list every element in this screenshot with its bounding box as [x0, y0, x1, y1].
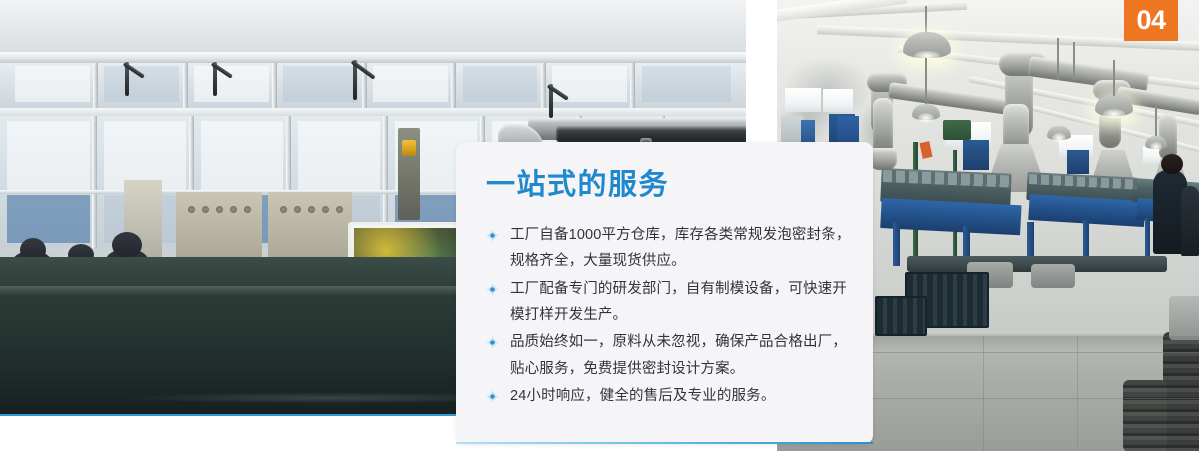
list-item: 品质始终如一，原料从未忽视，确保产品合格出厂，贴心服务，免费提供密封设计方案。	[486, 329, 851, 382]
list-item: 工厂配备专门的研发部门，自有制模设备，可快速开模打样开发生产。	[486, 276, 851, 329]
service-info-card: 一站式的服务 工厂自备1000平方仓库，库存各类常规发泡密封条，规格齐	[456, 142, 873, 444]
target-dot-icon	[486, 336, 499, 349]
service-bullet-list: 工厂自备1000平方仓库，库存各类常规发泡密封条，规格齐全，大量现货供应。	[486, 222, 851, 410]
step-number-text: 04	[1136, 7, 1165, 34]
banner-stage: 04 一站式的服务 工厂自备	[0, 0, 1199, 451]
list-item: 24小时响应，健全的售后及专业的服务。	[486, 383, 851, 409]
target-dot-icon	[486, 283, 499, 296]
list-item: 工厂自备1000平方仓库，库存各类常规发泡密封条，规格齐全，大量现货供应。	[486, 222, 851, 275]
list-item-text: 工厂配备专门的研发部门，自有制模设备，可快速开模打样开发生产。	[510, 281, 847, 323]
target-dot-icon	[486, 229, 499, 242]
list-item-text: 工厂自备1000平方仓库，库存各类常规发泡密封条，规格齐全，大量现货供应。	[510, 227, 851, 269]
target-dot-icon	[486, 390, 499, 403]
step-number-badge: 04	[1124, 0, 1178, 41]
list-item-text: 24小时响应，健全的售后及专业的服务。	[510, 388, 775, 404]
list-item-text: 品质始终如一，原料从未忽视，确保产品合格出厂，贴心服务，免费提供密封设计方案。	[510, 334, 847, 376]
card-title: 一站式的服务	[486, 170, 851, 202]
